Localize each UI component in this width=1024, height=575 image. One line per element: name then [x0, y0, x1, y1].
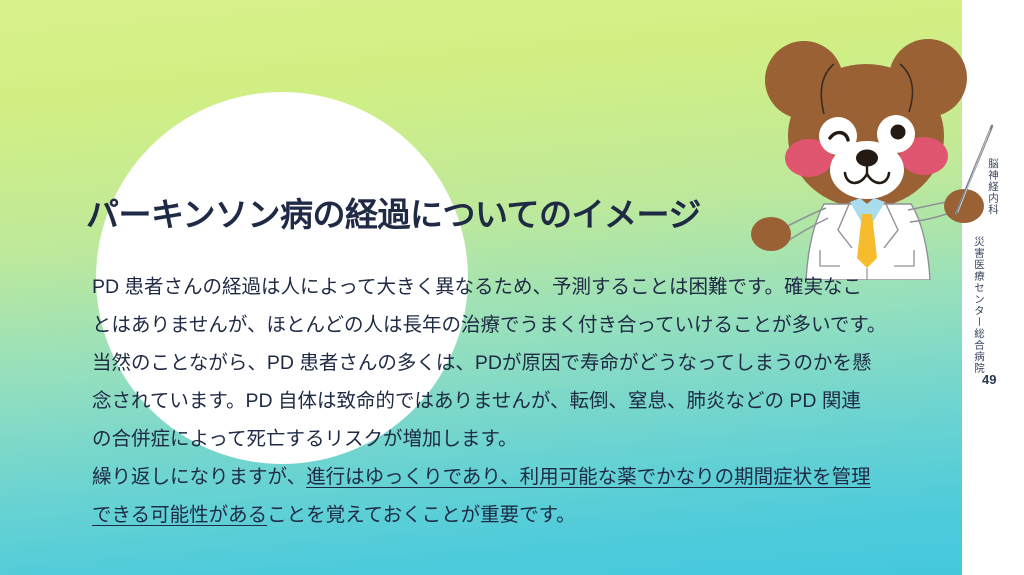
- body-line-6-emphasis: 進行はゆっくりであり、利用可能な薬でかなりの期間症状を管理: [306, 466, 871, 488]
- body-line-3: 当然のことながら、PD 患者さんの多くは、PDが原因で寿命がどうなってしまうのか…: [92, 344, 970, 382]
- body-line-6-plain: 繰り返しになりますが、: [92, 466, 306, 488]
- credit-organization-vertical: 災害医療センター総合病院: [972, 236, 987, 374]
- page-number: 49: [982, 372, 996, 387]
- slide-canvas: パーキンソン病の経過についてのイメージ PD 患者さんの経過は人によって大きく異…: [0, 0, 1024, 575]
- body-line-2: とはありませんが、ほとんどの人は長年の治療でうまく付き合っていけることが多いです…: [92, 306, 970, 344]
- body-line-4: 念されています。PD 自体は致命的ではありませんが、転倒、窒息、肺炎などの PD…: [92, 382, 970, 420]
- page-title: パーキンソン病の経過についてのイメージ: [86, 188, 701, 236]
- body-line-7-plain: ことを覚えておくことが重要です。: [267, 504, 576, 526]
- bear-doctor-mascot: [746, 18, 996, 280]
- body-text-block: PD 患者さんの経過は人によって大きく異なるため、予測することは困難です。確実な…: [92, 268, 970, 534]
- body-line-7: できる可能性があることを覚えておくことが重要です。: [92, 496, 970, 534]
- credit-department-vertical: 脳神経内科: [986, 158, 1001, 216]
- body-line-7-emphasis: できる可能性がある: [92, 504, 267, 526]
- body-line-1: PD 患者さんの経過は人によって大きく異なるため、予測することは困難です。確実な…: [92, 268, 970, 306]
- body-line-6: 繰り返しになりますが、進行はゆっくりであり、利用可能な薬でかなりの期間症状を管理: [92, 458, 970, 496]
- body-line-5: の合併症によって死亡するリスクが増加します。: [92, 420, 970, 458]
